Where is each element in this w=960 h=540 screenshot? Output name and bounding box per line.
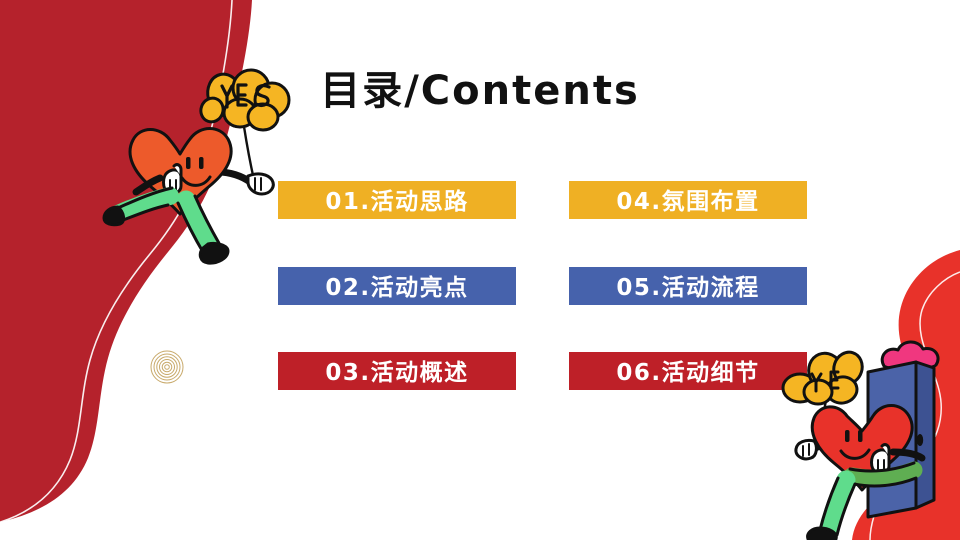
toc-item-03[interactable]: 03.活动概述 bbox=[278, 352, 516, 390]
white-contour-line-right bbox=[870, 272, 960, 540]
door-panel bbox=[868, 362, 916, 517]
heart-body bbox=[812, 406, 912, 491]
toc-item-label: 02.活动亮点 bbox=[325, 268, 468, 302]
shoe bbox=[808, 528, 837, 539]
door-edge bbox=[916, 362, 934, 508]
glove-left bbox=[796, 440, 816, 458]
red-wavy-blob-right bbox=[852, 250, 960, 540]
toc-item-label: 05.活动流程 bbox=[616, 268, 759, 302]
toc-item-label: 03.活动概述 bbox=[325, 353, 468, 387]
toc-item-label: 04.氛围布置 bbox=[616, 182, 759, 216]
door-handle bbox=[917, 434, 923, 446]
toc-item-01[interactable]: 01.活动思路 bbox=[278, 181, 516, 219]
toc-item-05[interactable]: 05.活动流程 bbox=[569, 267, 807, 305]
toc-item-04[interactable]: 04.氛围布置 bbox=[569, 181, 807, 219]
toc-item-06[interactable]: 06.活动细节 bbox=[569, 352, 807, 390]
concentric-circles-ornament-icon bbox=[150, 350, 184, 384]
toc-item-02[interactable]: 02.活动亮点 bbox=[278, 267, 516, 305]
slide-canvas: 目录/Contents 01.活动思路 02.活动亮点 03.活动概述 04.氛… bbox=[0, 0, 960, 540]
page-title: 目录/Contents bbox=[0, 58, 960, 116]
toc-item-label: 06.活动细节 bbox=[616, 353, 759, 387]
glove-thumbs-up bbox=[872, 450, 890, 473]
toc-item-label: 01.活动思路 bbox=[325, 182, 468, 216]
cloud-icon bbox=[882, 342, 938, 369]
